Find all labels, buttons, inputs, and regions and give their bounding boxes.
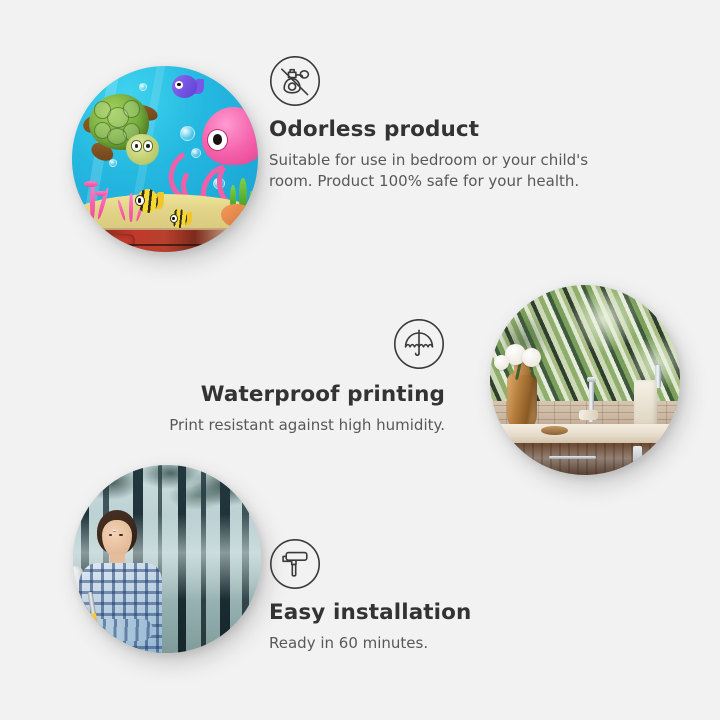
feature-installation: Easy installation Ready in 60 minutes. — [269, 538, 569, 654]
soap-bar — [579, 410, 598, 420]
white-rose — [522, 348, 541, 367]
striped-fish-icon — [169, 209, 191, 228]
bathroom-scene — [490, 285, 680, 475]
drawer-pull — [549, 456, 596, 459]
brass-vase — [507, 371, 537, 432]
bathroom-vanity-photo[interactable] — [490, 285, 680, 475]
no-odor-perfume-icon — [269, 55, 321, 107]
ocean-scene — [72, 66, 258, 252]
feature-description: Print resistant against high humidity. — [143, 415, 445, 436]
feature-title: Odorless product — [269, 117, 609, 144]
starfish-icon — [221, 204, 254, 228]
feature-title: Easy installation — [269, 600, 569, 627]
vanity-cabinet — [505, 443, 680, 475]
striped-fish-icon — [133, 189, 163, 213]
underwater-cartoon-mural-photo[interactable] — [72, 66, 258, 252]
face — [102, 520, 132, 558]
installer-woman-forest-photo[interactable] — [73, 465, 261, 653]
umbrella-icon — [393, 318, 445, 370]
countertop — [490, 424, 680, 445]
forest-scene — [73, 465, 261, 653]
feature-panel: Odorless product Suitable for use in bed… — [0, 0, 720, 720]
feature-title: Waterproof printing — [143, 382, 445, 409]
feature-waterproof: Waterproof printing Print resistant agai… — [143, 318, 445, 436]
woman-installer — [73, 510, 186, 653]
sea-turtle-icon — [83, 92, 180, 170]
feature-odorless: Odorless product Suitable for use in bed… — [269, 55, 609, 192]
towel — [634, 380, 657, 426]
cabinet-pull — [633, 446, 642, 473]
feature-description: Ready in 60 minutes. — [269, 633, 569, 654]
soap-dish — [541, 426, 568, 436]
paint-roller-icon — [269, 538, 321, 590]
feature-description: Suitable for use in bedroom or your chil… — [269, 150, 609, 193]
room-furniture-strip — [72, 230, 258, 252]
